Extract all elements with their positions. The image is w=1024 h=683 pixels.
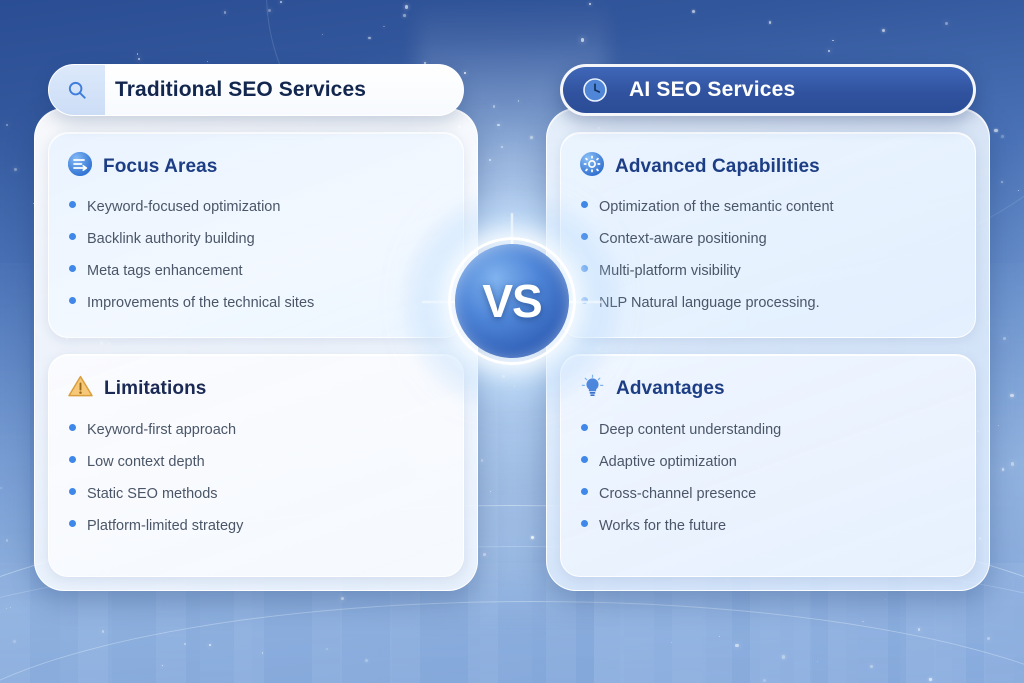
list-item-label: Adaptive optimization <box>599 453 737 472</box>
advanced-capabilities-card: Advanced Capabilities Optimization of th… <box>560 132 976 338</box>
ai-header-title: AI SEO Services <box>613 78 795 102</box>
search-icon <box>49 65 105 115</box>
list-item: Works for the future <box>579 511 955 543</box>
list-item-label: Multi-platform visibility <box>599 262 741 281</box>
list-item-label: Improvements of the technical sites <box>87 294 314 313</box>
list-item-label: NLP Natural language processing. <box>599 294 820 313</box>
list-item-label: Keyword-first approach <box>87 421 236 440</box>
limitations-card: Limitations Keyword-first approach Low c… <box>48 354 464 577</box>
list-item: Improvements of the technical sites <box>67 288 443 320</box>
bullet-dot <box>581 456 588 463</box>
vs-circle: VS <box>455 244 569 358</box>
bullet-dot <box>69 297 76 304</box>
list-item: Context-aware positioning <box>579 224 955 256</box>
list-item: Platform-limited strategy <box>67 511 443 543</box>
bullet-dot <box>69 424 76 431</box>
bullet-dot <box>581 488 588 495</box>
list-item: Optimization of the semantic content <box>579 192 955 224</box>
list-item: Low context depth <box>67 447 443 479</box>
list-item: Static SEO methods <box>67 479 443 511</box>
list-item: Cross-channel presence <box>579 479 955 511</box>
traditional-header-pill[interactable]: Traditional SEO Services <box>48 64 464 116</box>
list-item-label: Context-aware positioning <box>599 230 767 249</box>
list-item: Adaptive optimization <box>579 447 955 479</box>
list-item-label: Works for the future <box>599 517 726 536</box>
clock-icon <box>577 77 613 103</box>
bullet-dot <box>69 201 76 208</box>
bullet-dot <box>69 456 76 463</box>
limitations-list: Keyword-first approach Low context depth… <box>67 415 443 542</box>
list-item: Backlink authority building <box>67 224 443 256</box>
bullet-dot <box>581 424 588 431</box>
gear-icon <box>579 151 605 182</box>
bullet-dot <box>69 520 76 527</box>
bullet-dot <box>69 265 76 272</box>
list-item: Deep content understanding <box>579 415 955 447</box>
bullet-dot <box>69 233 76 240</box>
list-item-label: Cross-channel presence <box>599 485 756 504</box>
ai-header-pill[interactable]: AI SEO Services <box>560 64 976 116</box>
focus-areas-list: Keyword-focused optimization Backlink au… <box>67 192 443 319</box>
list-item: Multi-platform visibility <box>579 256 955 288</box>
list-filter-icon <box>67 151 93 182</box>
warning-triangle-icon <box>67 373 94 405</box>
focus-areas-title: Focus Areas <box>103 156 217 178</box>
traditional-header-title: Traditional SEO Services <box>105 78 366 102</box>
advantages-list: Deep content understanding Adaptive opti… <box>579 415 955 542</box>
list-item-label: Platform-limited strategy <box>87 517 243 536</box>
advantages-title: Advantages <box>616 378 725 400</box>
bullet-dot <box>69 488 76 495</box>
limitations-title: Limitations <box>104 378 206 400</box>
list-item-label: Backlink authority building <box>87 230 255 249</box>
list-item-label: Optimization of the semantic content <box>599 198 834 217</box>
vs-badge: VS <box>448 237 576 365</box>
list-item: Meta tags enhancement <box>67 256 443 288</box>
bullet-dot <box>581 520 588 527</box>
advantages-card: Advantages Deep content understanding Ad… <box>560 354 976 577</box>
list-item-label: Meta tags enhancement <box>87 262 243 281</box>
infographic-canvas: Traditional SEO Services <box>0 0 1024 683</box>
list-item: NLP Natural language processing. <box>579 288 955 320</box>
list-item: Keyword-focused optimization <box>67 192 443 224</box>
list-item-label: Deep content understanding <box>599 421 781 440</box>
list-item-label: Low context depth <box>87 453 205 472</box>
vs-label: VS <box>482 274 541 328</box>
advanced-capabilities-list: Optimization of the semantic content Con… <box>579 192 955 319</box>
list-item-label: Static SEO methods <box>87 485 218 504</box>
list-item-label: Keyword-focused optimization <box>87 198 280 217</box>
bullet-dot <box>581 201 588 208</box>
list-item: Keyword-first approach <box>67 415 443 447</box>
advanced-capabilities-title: Advanced Capabilities <box>615 156 820 178</box>
